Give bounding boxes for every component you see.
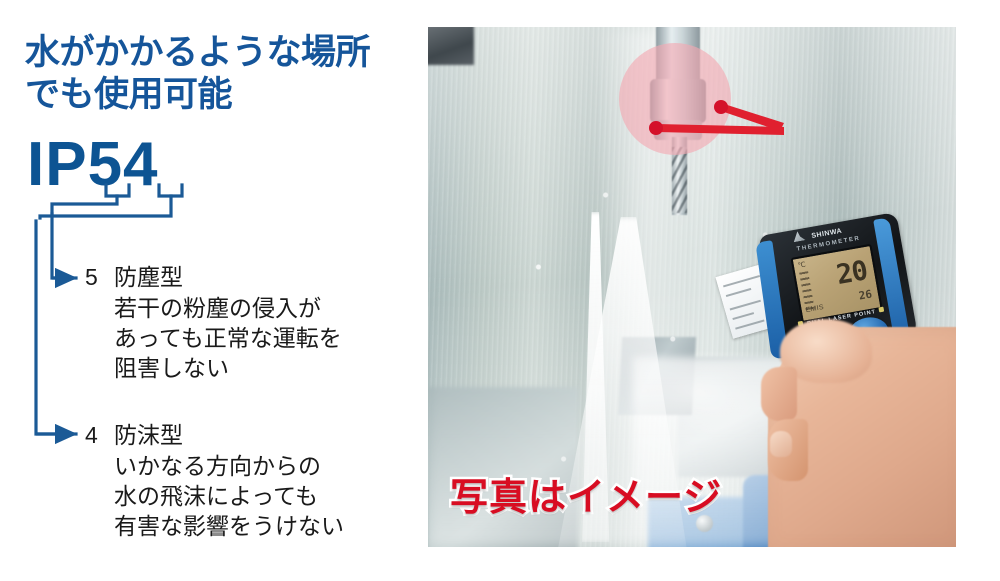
entry-5-title: 防塵型 [114, 262, 183, 292]
entry-5-digit: 5 [85, 262, 98, 292]
product-usage-photo: SHINWA THERMOMETER ℃ 20 26 EMIS DUAL LAS… [428, 27, 956, 547]
entry-5-description: 若干の粉塵の侵入が あっても正常な運転を 阻害しない [114, 293, 342, 383]
photo-disclaimer-caption: 写真はイメージ [450, 476, 722, 520]
laser-target-spot [619, 43, 731, 155]
entry-4-digit: 4 [85, 420, 98, 450]
left-info-panel: 水がかかるような場所 でも使用可能 IP54 [0, 0, 428, 581]
slide-root: 水がかかるような場所 でも使用可能 IP54 [0, 0, 1000, 581]
entry-4-title: 防沫型 [114, 420, 183, 450]
entry-4-description: いかなる方向からの 水の飛沫によっても 有害な影響をうけない [114, 451, 344, 541]
laser-dot-lower [649, 121, 663, 135]
laser-dot-upper [714, 100, 728, 114]
laser-beam-overlay [428, 27, 956, 547]
